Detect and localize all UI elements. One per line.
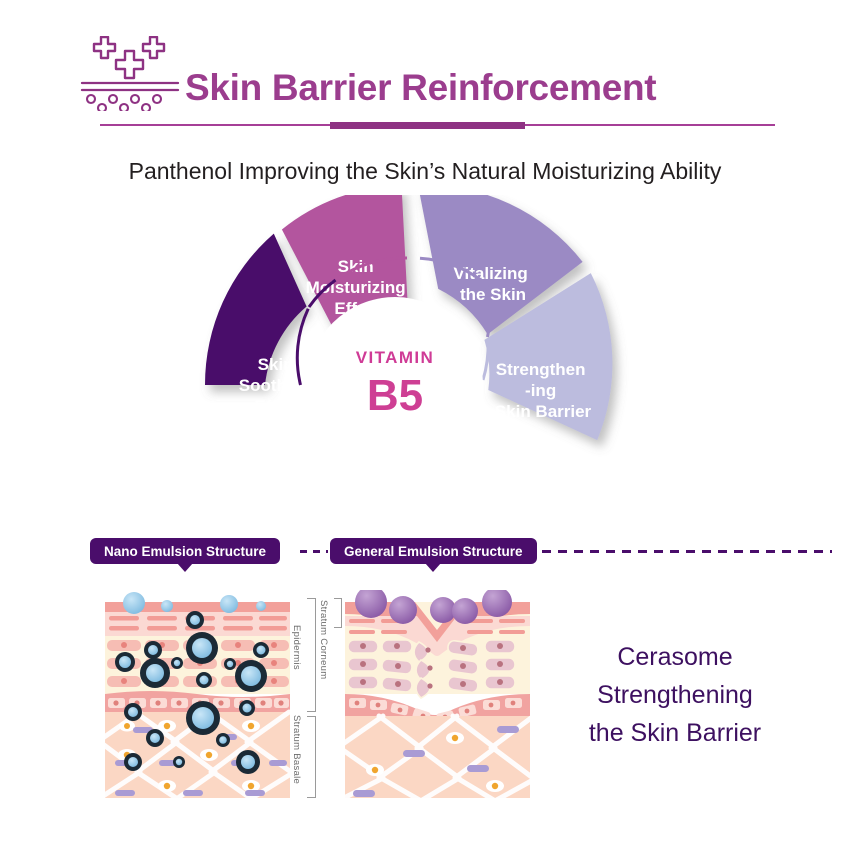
bracket-epidermis <box>307 598 316 712</box>
page-title: Skin Barrier Reinforcement <box>185 60 805 115</box>
badge-nano-tail <box>177 563 193 572</box>
badge-nano-emulsion-structure[interactable]: Nano Emulsion Structure <box>90 538 280 564</box>
cerasome-caption-line-1: Cerasome <box>550 638 800 676</box>
badge-connector-dash-right <box>542 550 832 553</box>
skin-diagram-general-emulsion <box>345 590 530 803</box>
layer-label-stratum-corneum: Stratum Corneum <box>318 600 329 679</box>
badge-connector-dash-left <box>300 550 328 553</box>
vitamin-word-label: VITAMIN <box>356 348 434 367</box>
cerasome-caption-line-3: the Skin Barrier <box>550 714 800 752</box>
title-underline-thick <box>330 122 525 129</box>
bracket-stratum-basale <box>307 716 316 798</box>
badge-general-tail <box>425 563 441 572</box>
skin-plus-dots-icon <box>80 36 180 111</box>
skin-diagram-nano-emulsion <box>105 590 290 803</box>
infographic-page: Skin Barrier Reinforcement Panthenol Imp… <box>0 0 850 850</box>
badge-nano-label: Nano Emulsion Structure <box>104 544 266 559</box>
layer-label-epidermis: Epidermis <box>291 625 302 670</box>
cerasome-caption-line-2: Strengthening <box>550 676 800 714</box>
badge-general-label: General Emulsion Structure <box>344 544 523 559</box>
cerasome-caption: Cerasome Strengthening the Skin Barrier <box>550 638 800 752</box>
badge-general-emulsion-structure[interactable]: General Emulsion Structure <box>330 538 537 564</box>
header: Skin Barrier Reinforcement <box>0 0 850 140</box>
layer-label-stratum-basale: Stratum Basale <box>291 715 302 784</box>
bracket-stratum-corneum <box>334 598 342 628</box>
vitamin-value-label: B5 <box>367 371 423 420</box>
page-subtitle: Panthenol Improving the Skin’s Natural M… <box>0 158 850 185</box>
vitamin-b5-fan-diagram: Skin Soothing Effect Skin Moisturizing E… <box>175 195 675 525</box>
